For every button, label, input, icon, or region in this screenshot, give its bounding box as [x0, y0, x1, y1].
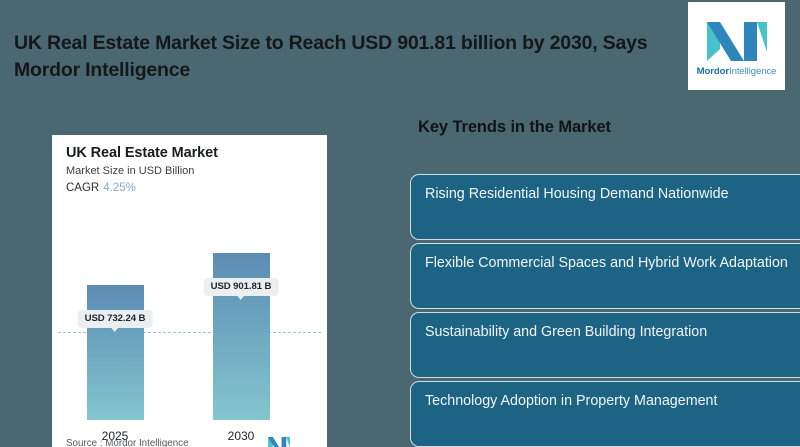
brand-logo: MordorIntelligence [688, 2, 785, 90]
brand-name-light: Intelligence [729, 66, 776, 77]
trend-card-3[interactable]: Sustainability and Green Building Integr… [410, 312, 800, 378]
bar-2025[interactable] [87, 285, 144, 420]
trend-card-1-label: Rising Residential Housing Demand Nation… [425, 186, 729, 202]
page-title: UK Real Estate Market Size to Reach USD … [14, 30, 664, 84]
trend-card-4[interactable]: Technology Adoption in Property Manageme… [410, 381, 800, 447]
trend-card-2[interactable]: Flexible Commercial Spaces and Hybrid Wo… [410, 243, 800, 309]
trend-card-4-label: Technology Adoption in Property Manageme… [425, 393, 717, 409]
cagr-label: CAGR [66, 182, 99, 194]
trend-card-2-label: Flexible Commercial Spaces and Hybrid Wo… [425, 255, 788, 271]
chart-source: Source : Mordor Intelligence [66, 438, 189, 447]
chart-title: UK Real Estate Market [66, 145, 218, 161]
chart-subtitle: Market Size in USD Billion [66, 165, 194, 177]
bar-label-2025: USD 732.24 B [78, 310, 153, 328]
trend-card-3-label: Sustainability and Green Building Integr… [425, 324, 707, 340]
trends-list: Rising Residential Housing Demand Nation… [410, 174, 800, 447]
cagr-value: 4.25% [103, 182, 136, 194]
brand-wordmark: MordorIntelligence [697, 66, 777, 77]
bar-label-2030: USD 901.81 B [204, 278, 279, 296]
mordor-m-logo-icon [704, 19, 770, 61]
brand-name-bold: Mordor [697, 66, 729, 77]
mordor-m-mark-icon [267, 435, 291, 447]
chart-card: UK Real Estate Market Market Size in USD… [52, 135, 327, 447]
trend-card-1[interactable]: Rising Residential Housing Demand Nation… [410, 174, 800, 240]
axis-tick-2030: 2030 [228, 429, 255, 443]
chart-cagr: CAGR4.25% [66, 182, 136, 194]
trends-heading: Key Trends in the Market [418, 118, 611, 137]
chart-plot-area: USD 732.24 B USD 901.81 B 2025 2030 Sour… [52, 205, 327, 447]
